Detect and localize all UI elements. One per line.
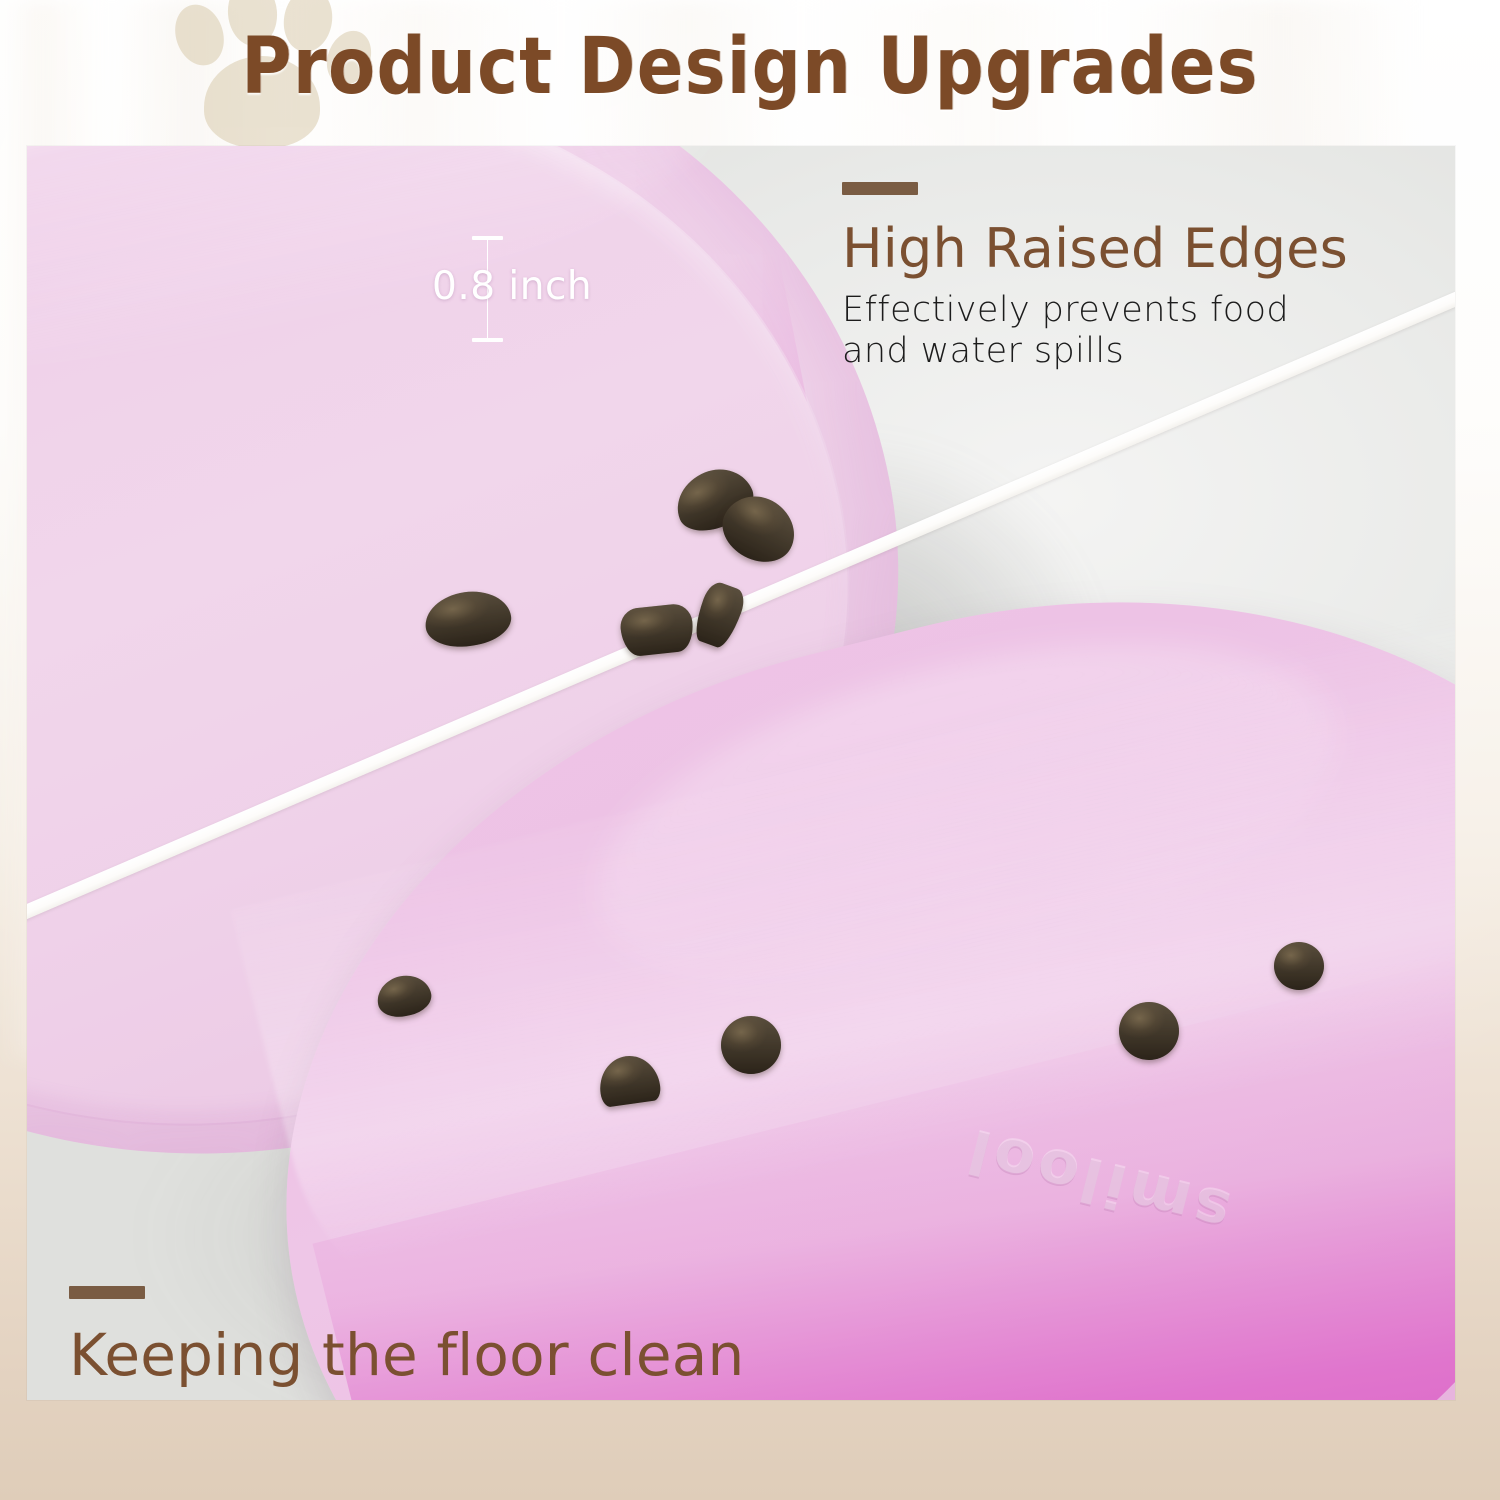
- kibble-piece: [619, 602, 696, 657]
- page-title: Product Design Upgrades: [90, 22, 1410, 112]
- callout-heading: High Raised Edges: [842, 217, 1442, 280]
- callout-subtext-line-1: Effectively prevents food: [842, 290, 1442, 331]
- kibble-piece: [721, 1016, 781, 1074]
- dimension-cap-top: [472, 236, 503, 240]
- product-marketing-image: Product Design Upgrades smilool 0.8 inch: [0, 0, 1500, 1500]
- callout-subtext-line-2: and water spills: [842, 331, 1442, 372]
- dimension-label: 0.8 inch: [432, 264, 592, 309]
- dimension-cap-bottom: [472, 338, 503, 342]
- header-banner: Product Design Upgrades: [0, 0, 1500, 146]
- callout-rule: [69, 1286, 145, 1299]
- kibble-piece: [1119, 1002, 1179, 1060]
- callout-rule: [842, 182, 918, 195]
- callout-heading: Keeping the floor clean: [69, 1321, 1249, 1389]
- product-photo-panel: smilool 0.8 inch High Raised Edges Effec…: [27, 146, 1455, 1400]
- callout-subtext: Effectively prevents food and water spil…: [842, 290, 1442, 373]
- callout-high-raised-edges: High Raised Edges Effectively prevents f…: [842, 182, 1442, 373]
- kibble-piece: [1274, 942, 1324, 990]
- callout-keeping-the-floor-clean: Keeping the floor clean Minimizes time s…: [69, 1286, 1249, 1400]
